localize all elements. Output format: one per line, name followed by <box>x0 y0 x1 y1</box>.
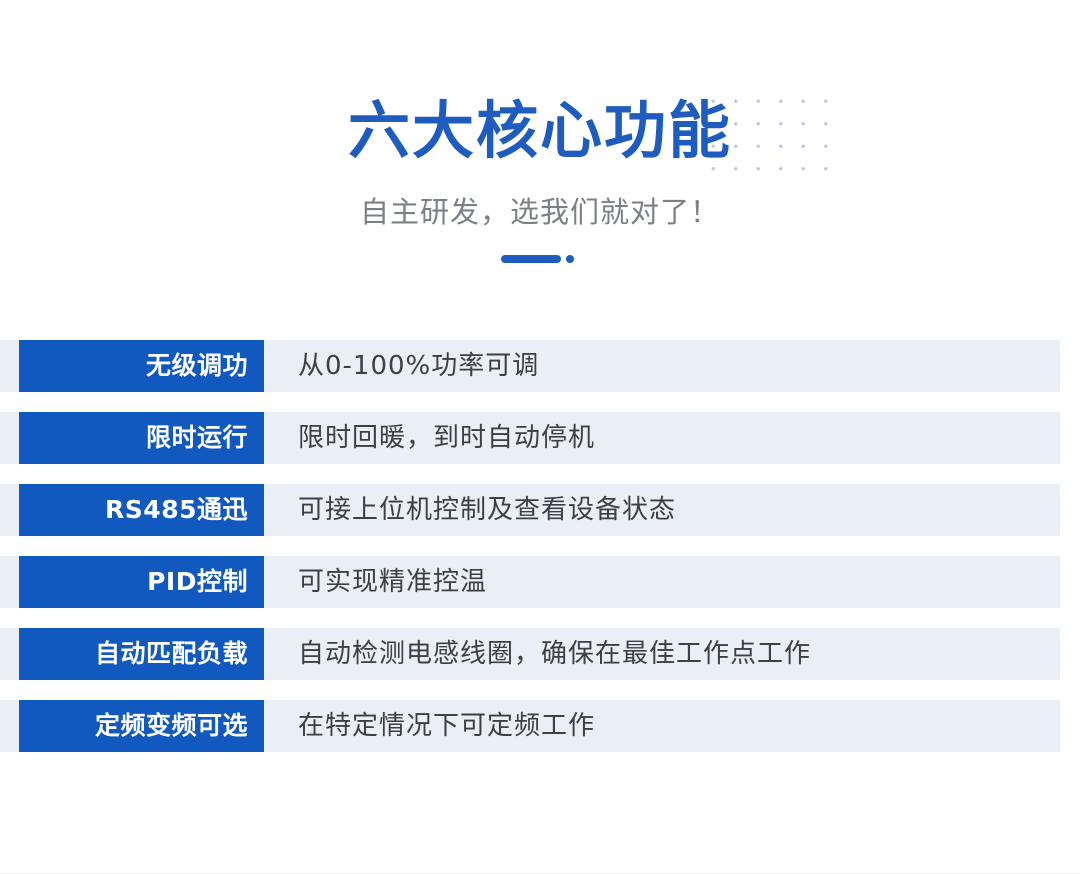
feature-row: 定频变频可选 在特定情况下可定频工作 <box>0 700 1060 752</box>
feature-description: 自动检测电感线圈，确保在最佳工作点工作 <box>264 628 1060 680</box>
feature-highlight-page: 六大核心功能 自主研发，选我们就对了！ 无级调功 从0-100%功率可调 限时运… <box>0 0 1080 874</box>
page-title: 六大核心功能 <box>0 86 1080 176</box>
feature-description: 可接上位机控制及查看设备状态 <box>264 484 1060 536</box>
feature-list: 无级调功 从0-100%功率可调 限时运行 限时回暖，到时自动停机 RS485通… <box>0 340 1080 752</box>
feature-description: 在特定情况下可定频工作 <box>264 700 1060 752</box>
feature-row: 限时运行 限时回暖，到时自动停机 <box>0 412 1060 464</box>
feature-label-badge: PID控制 <box>19 556 264 608</box>
feature-row: PID控制 可实现精准控温 <box>0 556 1060 608</box>
title-block: 六大核心功能 <box>0 86 1080 178</box>
feature-label-badge: RS485通迅 <box>19 484 264 536</box>
feature-description: 从0-100%功率可调 <box>264 340 1060 392</box>
feature-row: 自动匹配负载 自动检测电感线圈，确保在最佳工作点工作 <box>0 628 1060 680</box>
feature-label-badge: 定频变频可选 <box>19 700 264 752</box>
divider-dot <box>566 255 574 263</box>
feature-row: RS485通迅 可接上位机控制及查看设备状态 <box>0 484 1060 536</box>
divider-decoration <box>501 254 579 264</box>
divider-bar <box>501 255 561 263</box>
feature-label-badge: 限时运行 <box>19 412 264 464</box>
page-subtitle: 自主研发，选我们就对了！ <box>0 192 1080 232</box>
feature-description: 可实现精准控温 <box>264 556 1060 608</box>
page-header: 六大核心功能 自主研发，选我们就对了！ <box>0 0 1080 264</box>
feature-label-badge: 自动匹配负载 <box>19 628 264 680</box>
feature-description: 限时回暖，到时自动停机 <box>264 412 1060 464</box>
feature-row: 无级调功 从0-100%功率可调 <box>0 340 1060 392</box>
feature-label-badge: 无级调功 <box>19 340 264 392</box>
